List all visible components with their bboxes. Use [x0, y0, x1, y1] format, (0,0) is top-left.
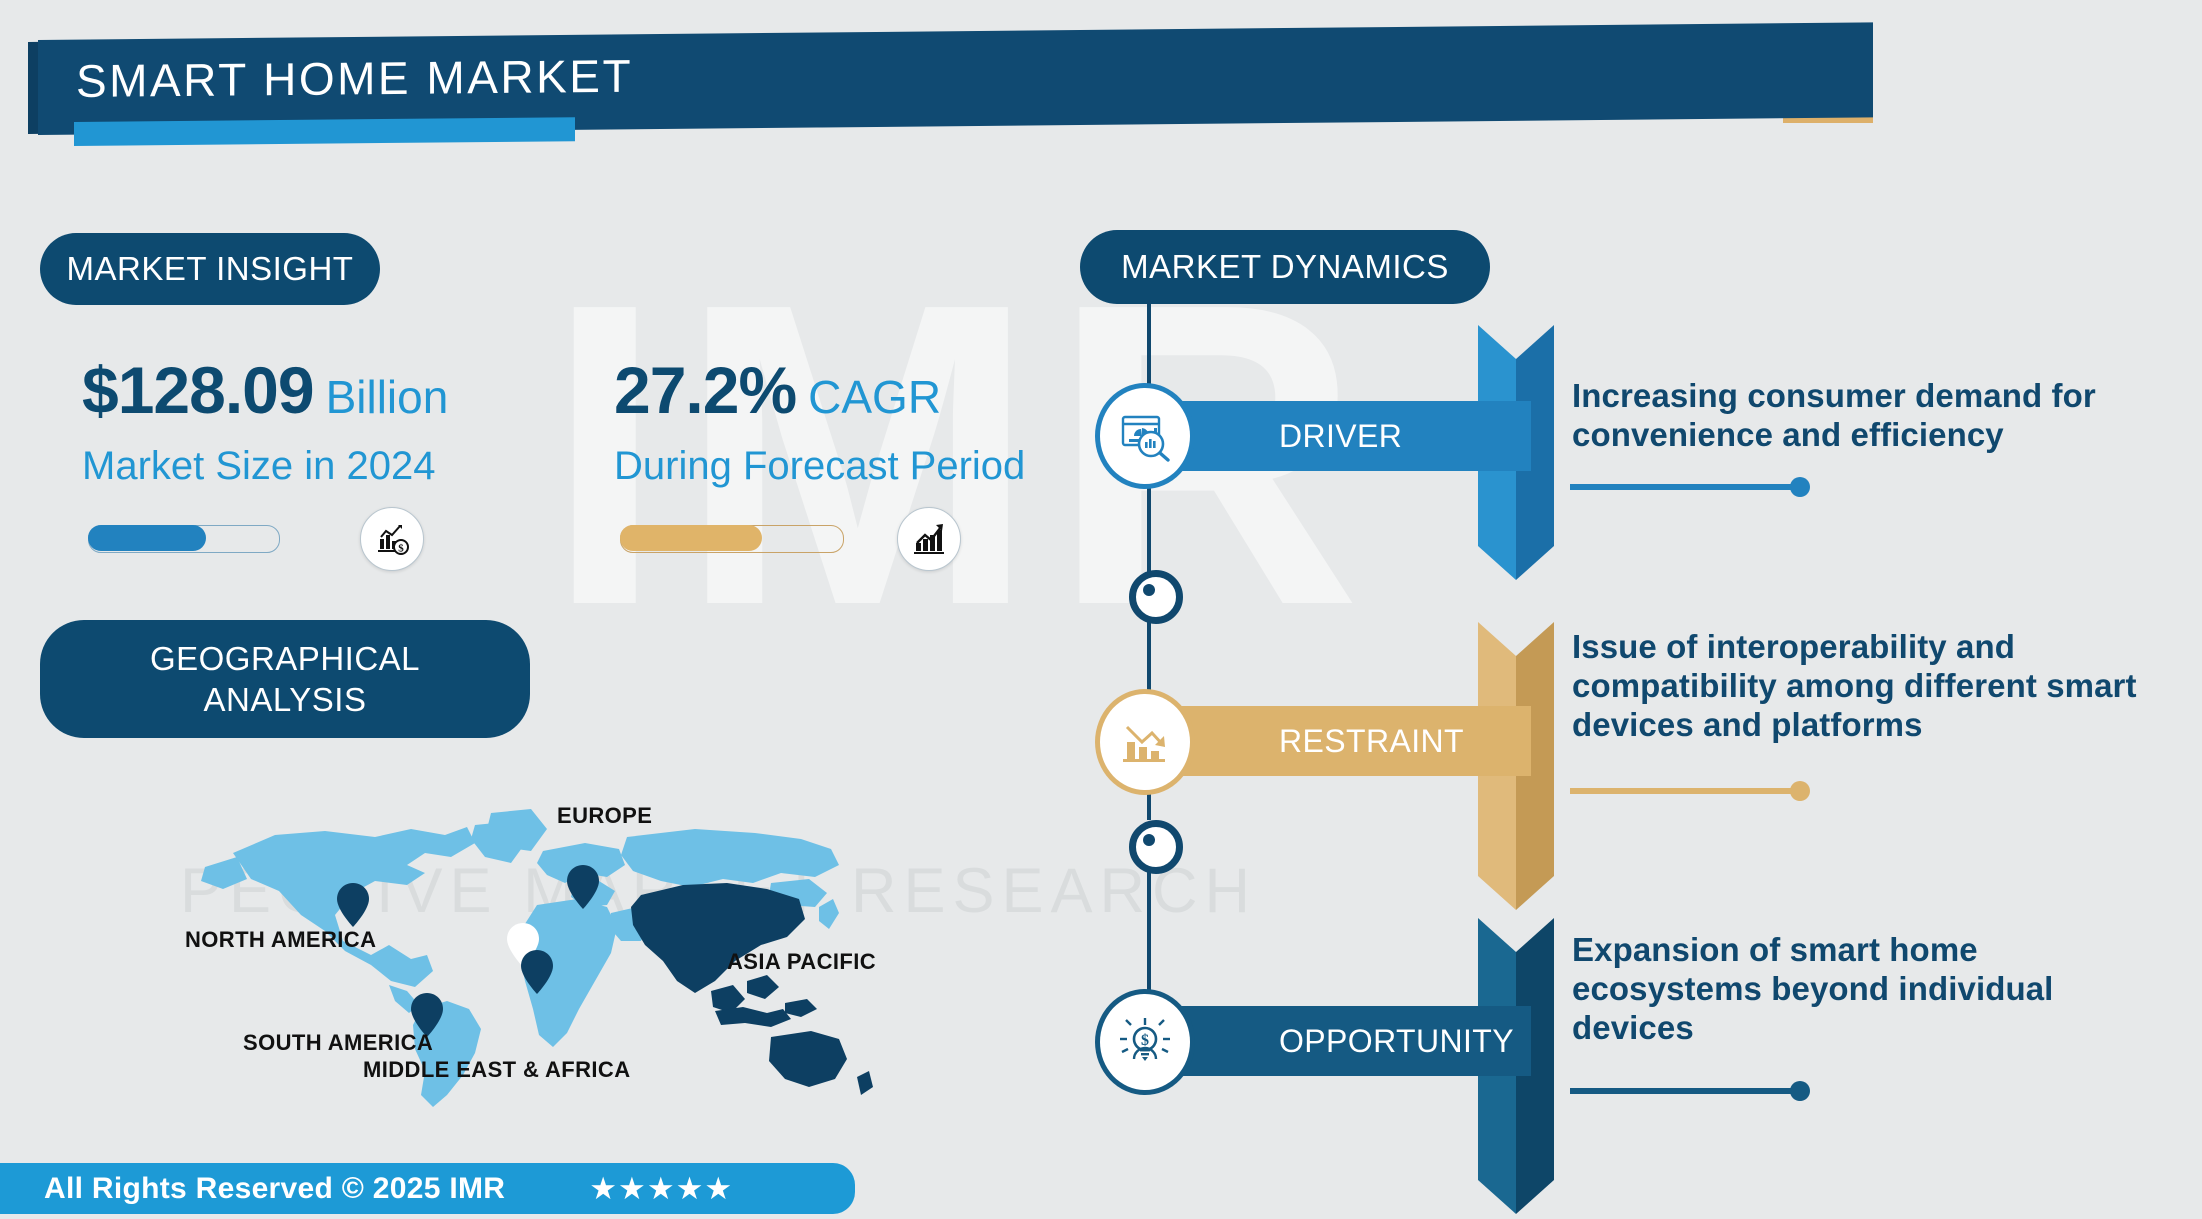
- dynamics-text-driver: Increasing consumer demand for convenien…: [1572, 377, 2152, 455]
- cagr-value: 27.2%: [614, 352, 796, 428]
- dynamics-leader-dot: [1790, 1081, 1810, 1101]
- cagr-unit: CAGR: [808, 370, 941, 424]
- dynamics-leader-line: [1570, 788, 1800, 794]
- geo-pill-line1: GEOGRAPHICAL: [150, 638, 420, 679]
- map-pin: [337, 883, 369, 927]
- map-label-middle-east-africa: MIDDLE EAST & AFRICA: [363, 1057, 631, 1083]
- market-insight-label: MARKET INSIGHT: [67, 250, 354, 288]
- market-dynamics-pill: MARKET DYNAMICS: [1080, 230, 1490, 304]
- declining-bar-chart-icon: [1100, 694, 1190, 790]
- map-label-asia-pacific: ASIA PACIFIC: [727, 949, 876, 975]
- dynamics-label-driver: DRIVER: [1279, 418, 1402, 455]
- market-size-progress-track: [88, 525, 280, 553]
- metric-market-size: $128.09Billion Market Size in 2024: [82, 352, 448, 489]
- dynamics-label-restraint: RESTRAINT: [1279, 723, 1464, 760]
- dynamics-label-opportunity: OPPORTUNITY: [1279, 1023, 1514, 1060]
- geo-pill-line2: ANALYSIS: [150, 679, 420, 720]
- dynamics-text-restraint: Issue of interoperability and compatibil…: [1572, 628, 2152, 745]
- dynamics-text-opportunity: Expansion of smart home ecosystems beyon…: [1572, 931, 2152, 1048]
- map-label-north-america: NORTH AMERICA: [185, 927, 376, 953]
- dynamics-leader-line: [1570, 1088, 1800, 1094]
- geographical-analysis-pill: GEOGRAPHICAL ANALYSIS: [40, 620, 530, 738]
- map-label-europe: EUROPE: [557, 803, 652, 829]
- map-label-south-america: SOUTH AMERICA: [243, 1030, 433, 1056]
- dashboard-magnifier-icon: [1100, 388, 1190, 484]
- lightbulb-dollar-icon: $: [1100, 994, 1190, 1090]
- rating-stars: ★★★★★: [589, 1171, 733, 1207]
- market-size-unit: Billion: [326, 370, 449, 424]
- dynamics-leader-dot: [1790, 781, 1810, 801]
- dynamics-leader-line: [1570, 484, 1800, 490]
- dynamics-leader-dot: [1790, 477, 1810, 497]
- svg-text:$: $: [398, 543, 404, 555]
- timeline-node-2: [1129, 820, 1183, 874]
- cagr-progress-track: [620, 525, 844, 553]
- dynamics-bar-restraint[interactable]: RESTRAINT: [1147, 706, 1531, 776]
- market-size-value: $128.09: [82, 352, 314, 428]
- cagr-progress-fill: [620, 525, 762, 551]
- timeline-node-1: [1129, 570, 1183, 624]
- metric-cagr: 27.2%CAGR During Forecast Period: [614, 352, 1025, 489]
- growth-arrow-chart-icon: [897, 507, 961, 571]
- page-title: SMART HOME MARKET: [76, 49, 633, 108]
- infographic-canvas: IMR PECTIVE MARKET RESEARCH SMART HOME M…: [0, 0, 2202, 1214]
- svg-text:$: $: [1141, 1032, 1149, 1049]
- market-size-caption: Market Size in 2024: [82, 444, 448, 489]
- world-map: NORTH AMERICAEUROPEASIA PACIFICSOUTH AME…: [175, 795, 895, 1115]
- copyright-text: All Rights Reserved © 2025 IMR: [44, 1172, 505, 1206]
- market-insight-pill: MARKET INSIGHT: [40, 233, 380, 305]
- title-underline-bar: [74, 117, 575, 146]
- footer-bar: All Rights Reserved © 2025 IMR ★★★★★: [0, 1163, 855, 1214]
- dynamics-bar-driver[interactable]: DRIVER: [1147, 401, 1531, 471]
- dynamics-bar-opportunity[interactable]: OPPORTUNITY: [1147, 1006, 1531, 1076]
- market-dynamics-label: MARKET DYNAMICS: [1121, 248, 1449, 286]
- bar-chart-dollar-icon: $: [360, 507, 424, 571]
- market-size-progress-fill: [88, 525, 206, 551]
- cagr-caption: During Forecast Period: [614, 444, 1025, 489]
